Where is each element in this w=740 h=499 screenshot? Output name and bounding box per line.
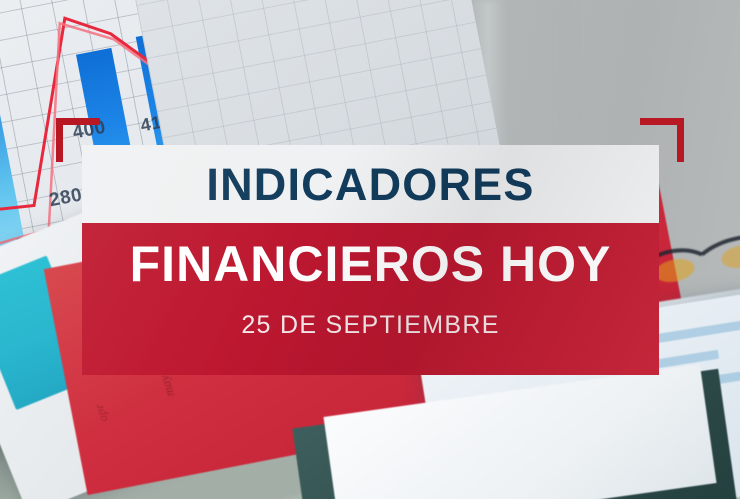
- banner-title-bar: INDICADORES: [82, 145, 659, 223]
- banner-subtitle-bar: FINANCIEROS HOY 25 DE SEPTIEMBRE: [82, 223, 659, 375]
- poster-root: 400 410 340 280 250 may june july apr al…: [0, 0, 740, 499]
- title-banner: INDICADORES FINANCIEROS HOY 25 DE SEPTIE…: [82, 145, 659, 375]
- month-label: may: [156, 373, 178, 398]
- page-title: INDICADORES: [206, 162, 534, 207]
- month-label: apr: [91, 402, 112, 424]
- publication-date: 25 DE SEPTIEMBRE: [241, 311, 499, 340]
- page-subtitle: FINANCIEROS HOY: [130, 239, 612, 289]
